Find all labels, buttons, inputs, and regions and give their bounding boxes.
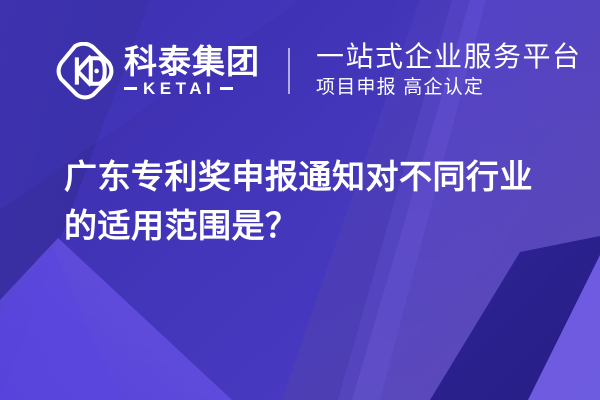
brand-name-cn: 科泰集团	[124, 45, 260, 79]
page-title: 广东专利奖申报通知对不同行业的适用范围是？	[64, 152, 554, 250]
tagline-block: 一站式企业服务平台 项目申报 高企认定	[316, 40, 582, 102]
vertical-divider-icon	[288, 48, 290, 94]
dash-left-icon	[124, 87, 137, 90]
brand-name-en-row: KETAI	[124, 80, 260, 97]
brand-logo: 科泰集团 KETAI	[56, 38, 260, 104]
tagline-sub: 项目申报 高企认定	[316, 76, 582, 101]
banner-header: 科泰集团 KETAI 一站式企业服务平台 项目申报 高企认定	[56, 38, 582, 104]
brand-wordmark: 科泰集团 KETAI	[124, 45, 260, 98]
brand-name-en: KETAI	[137, 80, 220, 97]
dash-right-icon	[220, 87, 233, 90]
ketai-diamond-kd-logo-icon	[56, 42, 114, 100]
promo-banner: 科泰集团 KETAI 一站式企业服务平台 项目申报 高企认定 广东专利奖申报通知…	[0, 0, 600, 400]
tagline-main: 一站式企业服务平台	[316, 41, 582, 72]
